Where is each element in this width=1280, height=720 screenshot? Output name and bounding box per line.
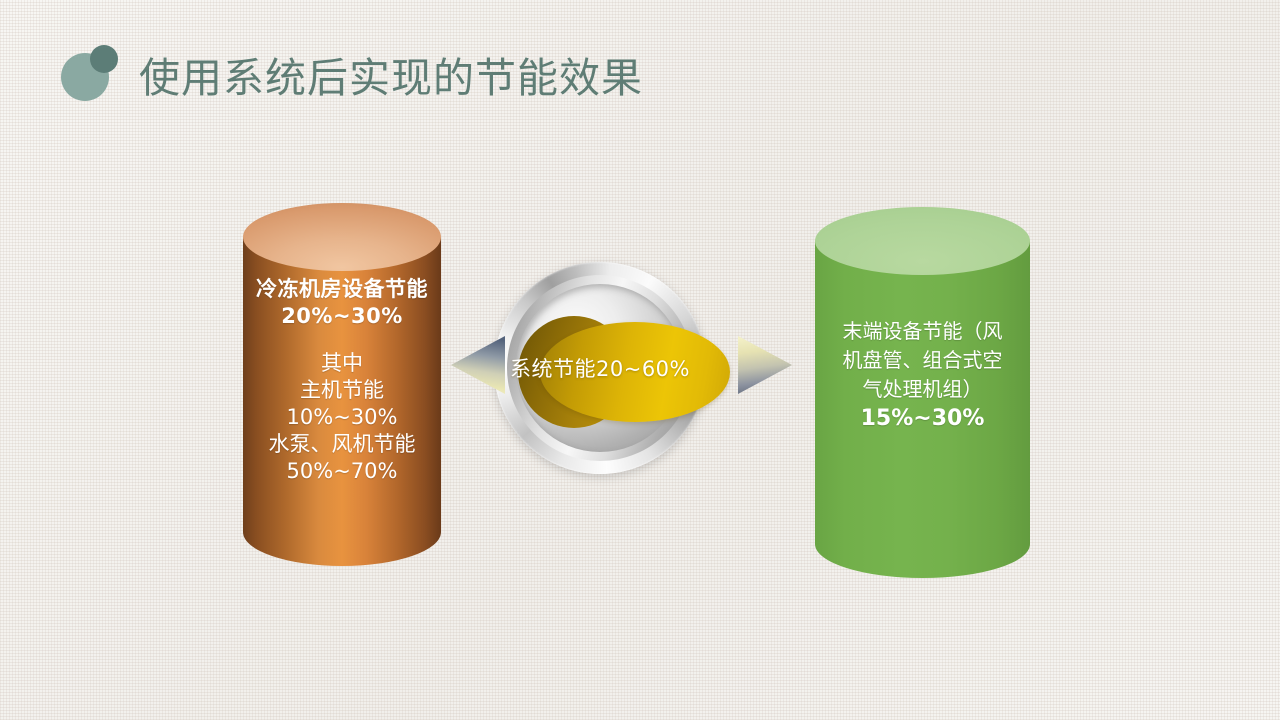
circle-icon-small [90, 45, 118, 73]
cylinder-right-terminal: 末端设备节能（风 机盘管、组合式空 气处理机组） 15%~30% [815, 207, 1030, 578]
center-hub-label: 系统节能20~60% [494, 355, 706, 383]
cylinder-right-top-ellipse [815, 207, 1030, 275]
cylinder-left-body [243, 237, 441, 566]
cylinder-left-refrigeration: 冷冻机房设备节能 20%~30% 其中 主机节能 10%~30% 水泵、风机节能… [243, 203, 441, 566]
cylinder-left-top-ellipse [243, 203, 441, 271]
arrow-right-icon [738, 336, 792, 394]
page-title: 使用系统后实现的节能效果 [139, 50, 643, 106]
logo-mark [61, 45, 121, 103]
slide-header: 使用系统后实现的节能效果 [0, 0, 1280, 130]
cylinder-right-body [815, 241, 1030, 578]
slide-canvas: 使用系统后实现的节能效果 冷冻机房设备节能 20%~30% 其中 主机节能 10… [0, 0, 1280, 720]
